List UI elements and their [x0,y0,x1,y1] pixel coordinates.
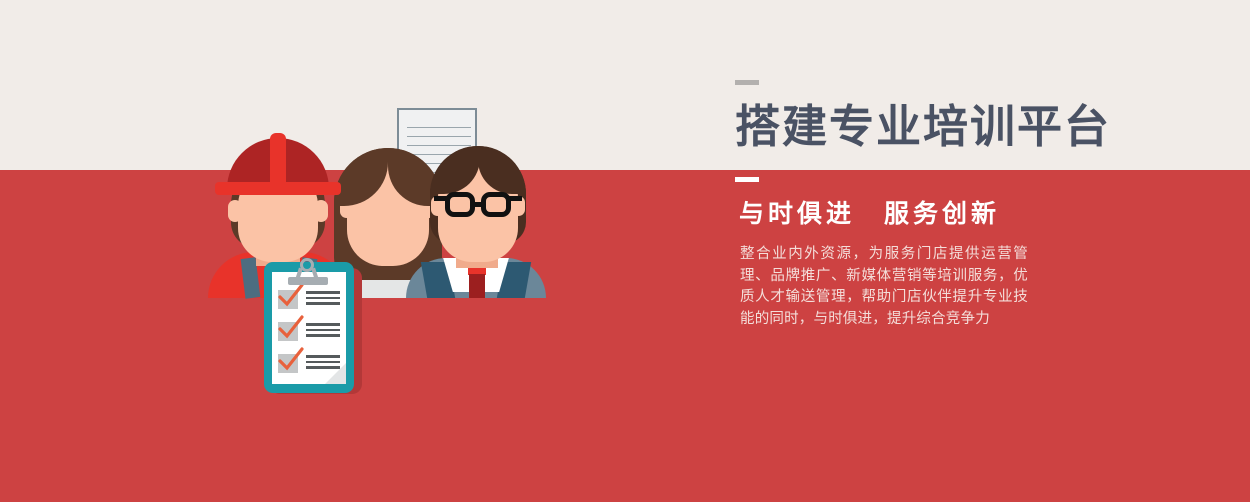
page-body-text: 整合业内外资源，为服务门店提供运营管理、品牌推广、新媒体营销等培训服务，优质人才… [740,244,1028,330]
title-accent-dash [735,80,759,85]
page-title: 搭建专业培训平台 [735,98,1111,156]
checklist-item [272,318,346,344]
checklist-item [272,350,346,376]
clip-ring-icon [300,258,314,272]
checklist-item [272,286,346,312]
check-icon [276,282,304,310]
training-platform-banner: 搭建专业培训平台 与时俱进 服务创新 整合业内外资源，为服务门店提供运营管理、品… [0,0,1250,502]
page-subtitle: 与时俱进 服务创新 [739,198,1000,230]
subtitle-accent-dash [735,177,759,182]
text-column: 搭建专业培训平台 与时俱进 服务创新 整合业内外资源，为服务门店提供运营管理、品… [735,0,1035,502]
check-icon [276,314,304,342]
illustration-group [0,0,620,502]
check-icon [276,346,304,374]
